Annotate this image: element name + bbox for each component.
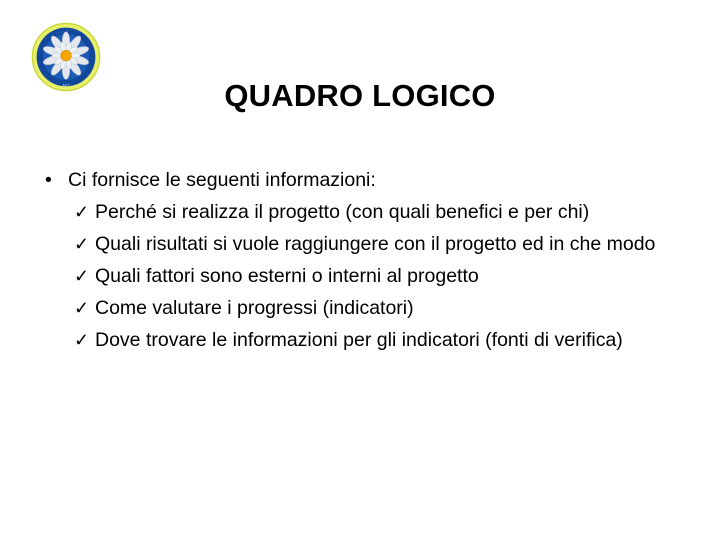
list-item-text: Quali risultati si vuole raggiungere con… — [95, 228, 680, 260]
checkmark-icon: ✓ — [74, 324, 89, 356]
checkmark-icon: ✓ — [74, 260, 89, 292]
list-item-text: Dove trovare le informazioni per gli ind… — [95, 324, 680, 356]
list-item: ✓ Quali fattori sono esterni o interni a… — [40, 260, 680, 292]
list-item: ✓ Dove trovare le informazioni per gli i… — [40, 324, 680, 356]
checkmark-icon: ✓ — [74, 196, 89, 228]
lead-bullet-item: • Ci fornisce le seguenti informazioni: — [40, 164, 680, 196]
checkmark-icon: ✓ — [74, 228, 89, 260]
list-item: ✓ Perché si realizza il progetto (con qu… — [40, 196, 680, 228]
list-item-text: Quali fattori sono esterni o interni al … — [95, 260, 680, 292]
page-title: QUADRO LOGICO — [0, 76, 720, 116]
slide-canvas: · · · · · · · · ACT — [0, 0, 720, 540]
bullet-dot-icon: • — [45, 164, 52, 196]
list-item-text: Come valutare i progressi (indicatori) — [95, 292, 680, 324]
list-item: ✓ Come valutare i progressi (indicatori) — [40, 292, 680, 324]
checklist: ✓ Perché si realizza il progetto (con qu… — [40, 196, 680, 356]
list-item-text: Perché si realizza il progetto (con qual… — [95, 196, 680, 228]
list-item: ✓ Quali risultati si vuole raggiungere c… — [40, 228, 680, 260]
lead-bullet-text: Ci fornisce le seguenti informazioni: — [68, 169, 376, 191]
content-body: • Ci fornisce le seguenti informazioni: … — [40, 164, 680, 356]
checkmark-icon: ✓ — [74, 292, 89, 324]
